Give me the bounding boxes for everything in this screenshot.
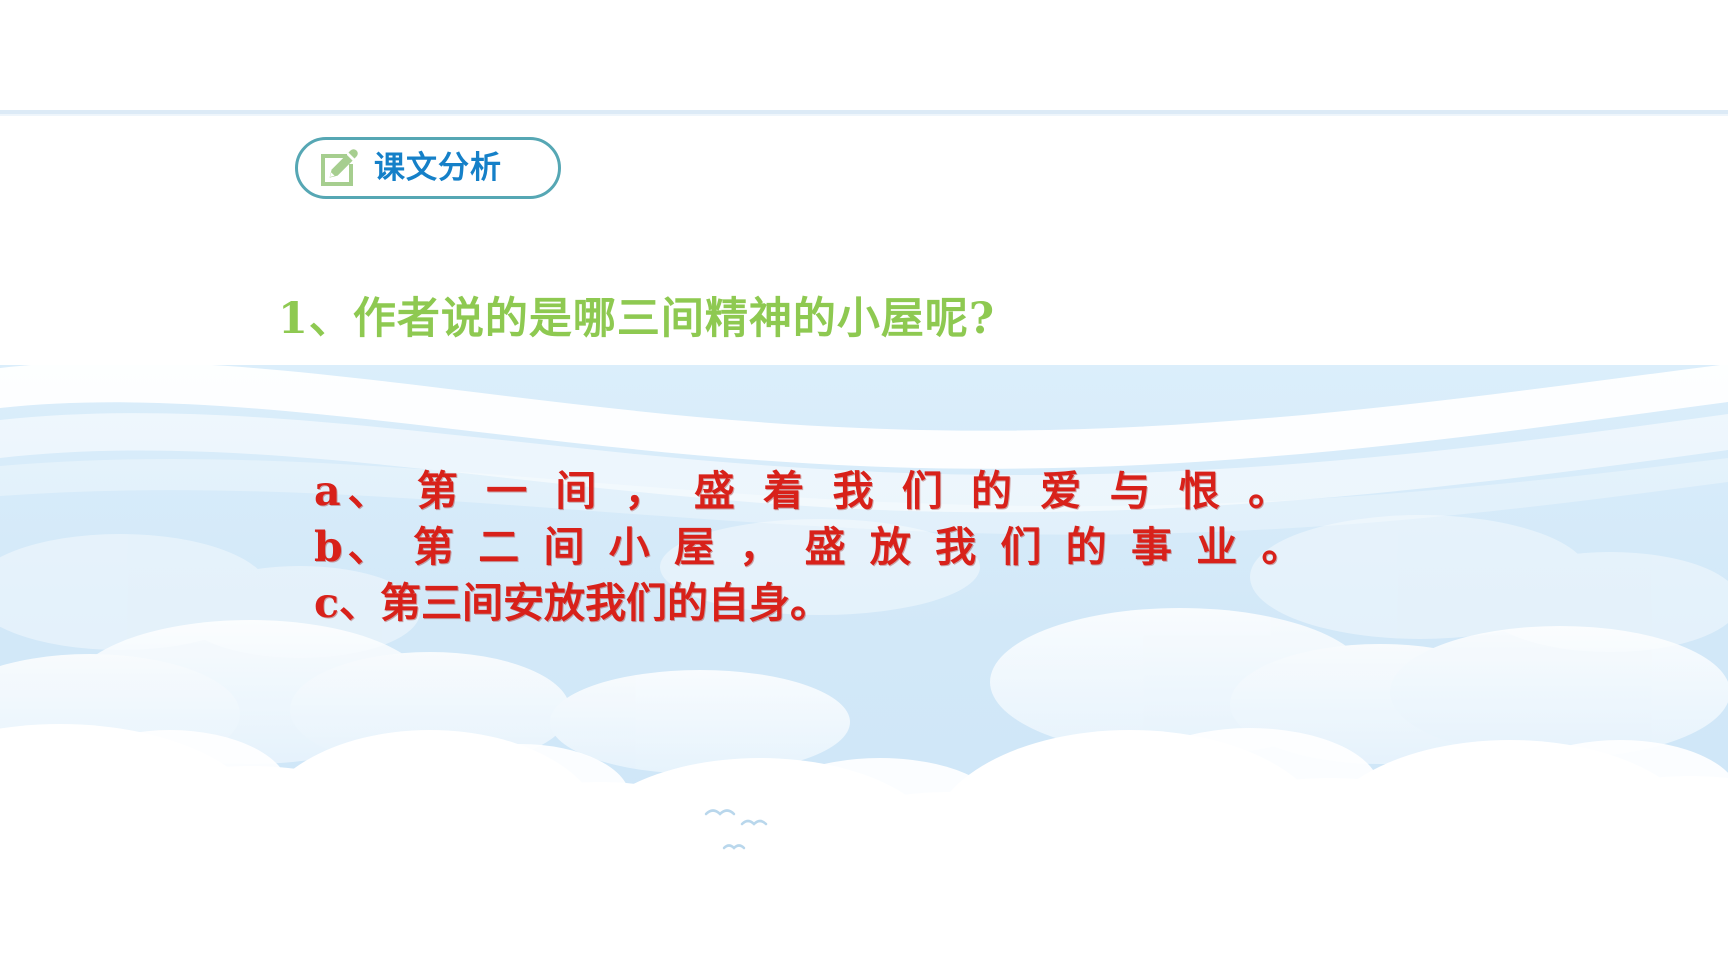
section-badge[interactable]: 课文分析 xyxy=(295,137,561,199)
sky-cloud-background xyxy=(0,362,1728,972)
edit-note-icon xyxy=(316,145,362,191)
header-divider-soft xyxy=(0,114,1728,116)
answer-line-a: a、 第 一 间 ， 盛 着 我 们 的 爱 与 恨 。 xyxy=(314,463,1296,519)
cloud-illustration xyxy=(0,362,1728,972)
question-heading: 1、作者说的是哪三间精神的小屋呢? xyxy=(278,284,995,346)
answer-line-b: b、 第 二 间 小 屋 ， 盛 放 我 们 的 事 业 。 xyxy=(314,519,1308,575)
section-badge-label: 课文分析 xyxy=(374,153,502,184)
answer-line-c: c、第三间安放我们的自身。 xyxy=(314,575,831,631)
slide-canvas: 课文分析 1、作者说的是哪三间精神的小屋呢? a、 第 一 间 ， 盛 着 我 … xyxy=(0,0,1728,972)
